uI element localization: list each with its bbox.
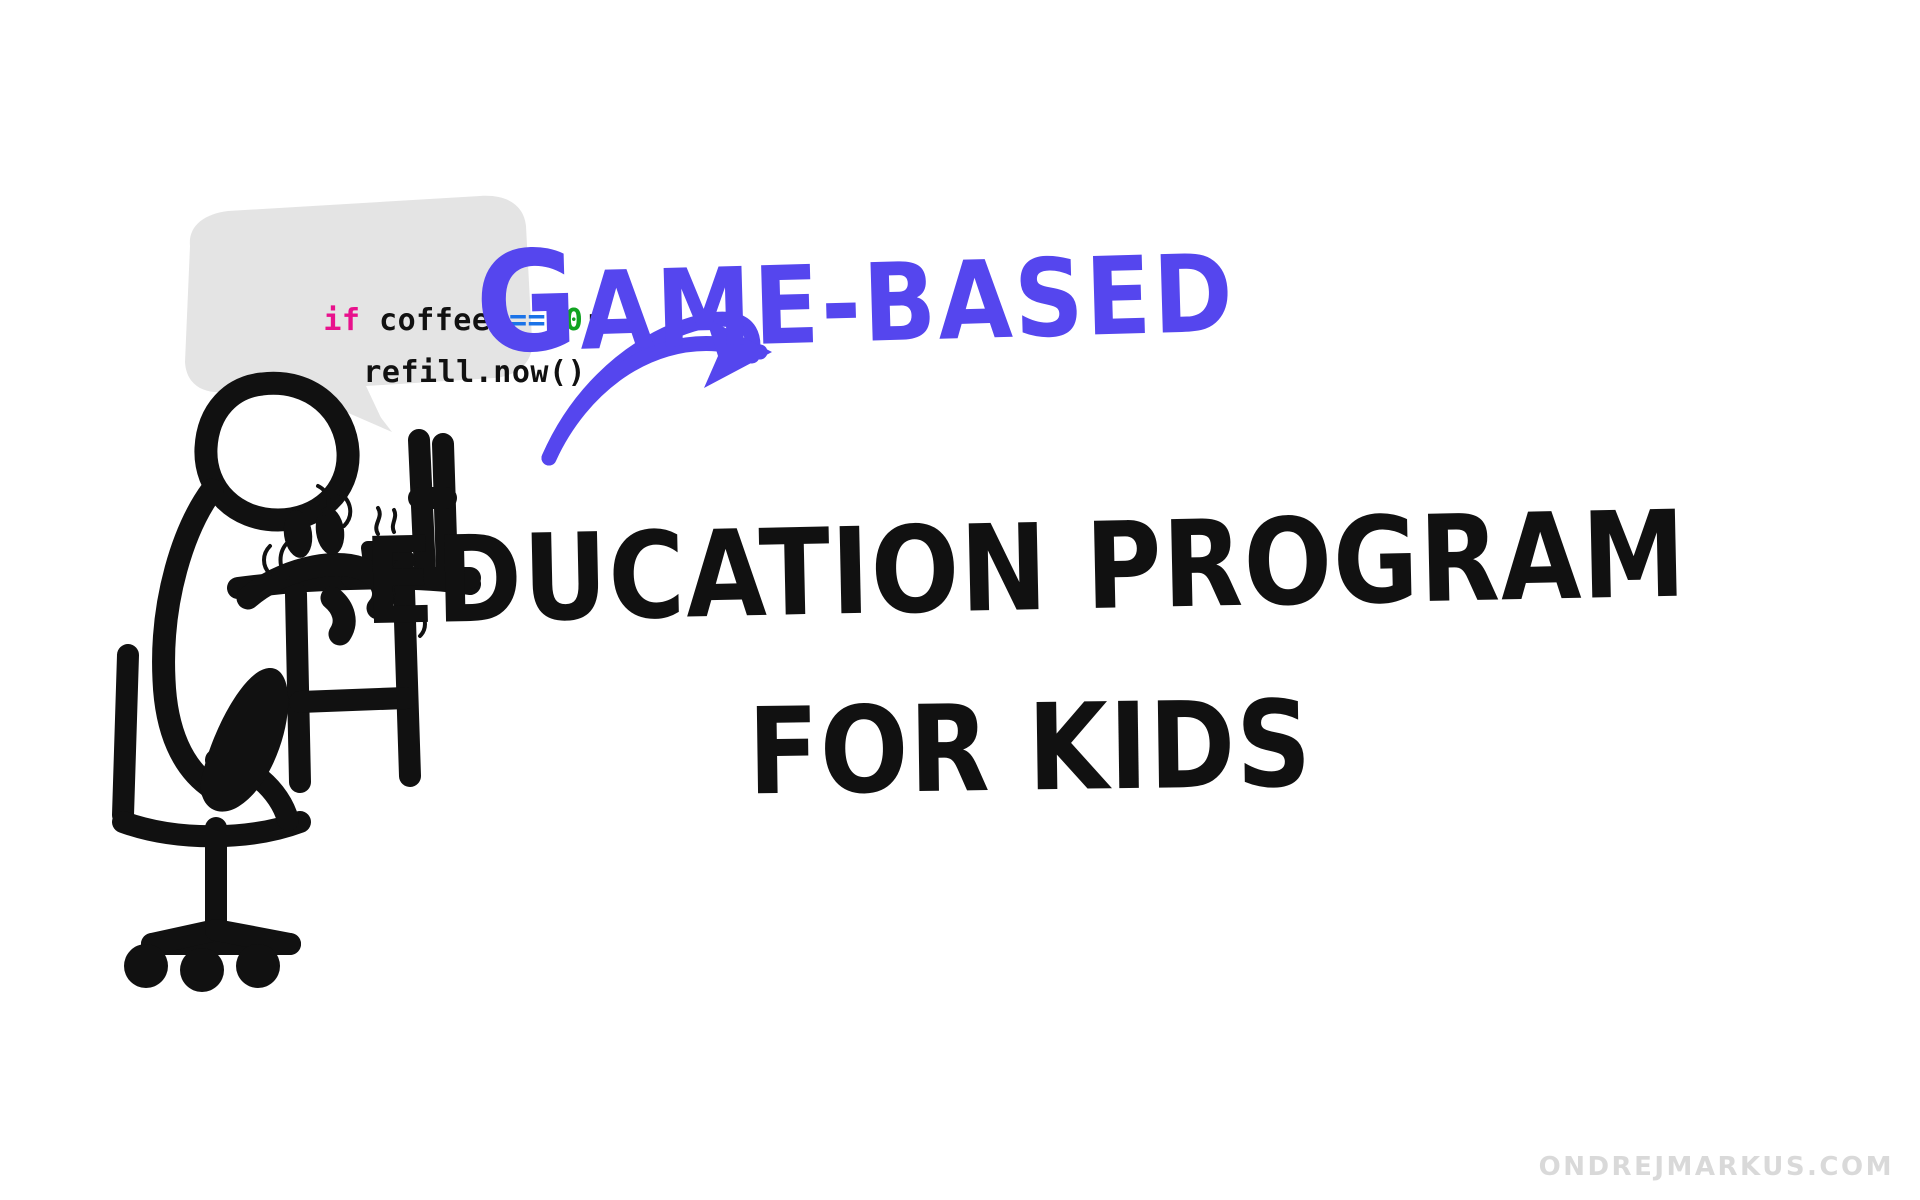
watermark: ONDREJMARKUS.COM xyxy=(1539,1152,1894,1182)
illustration-canvas: if coffee == 0: refill.now() GAME-BASED … xyxy=(0,0,1920,1200)
headline-line-1-rest: AME-BASED xyxy=(578,231,1236,375)
text-layer: if coffee == 0: refill.now() GAME-BASED … xyxy=(0,0,1920,1200)
headline-line-1: GAME-BASED xyxy=(474,214,1236,374)
headline-line-2: EDUCATION PROGRAM xyxy=(362,494,1687,641)
headline-line-3: FOR KIDS xyxy=(747,684,1313,811)
headline-first-letter: G xyxy=(473,221,581,385)
